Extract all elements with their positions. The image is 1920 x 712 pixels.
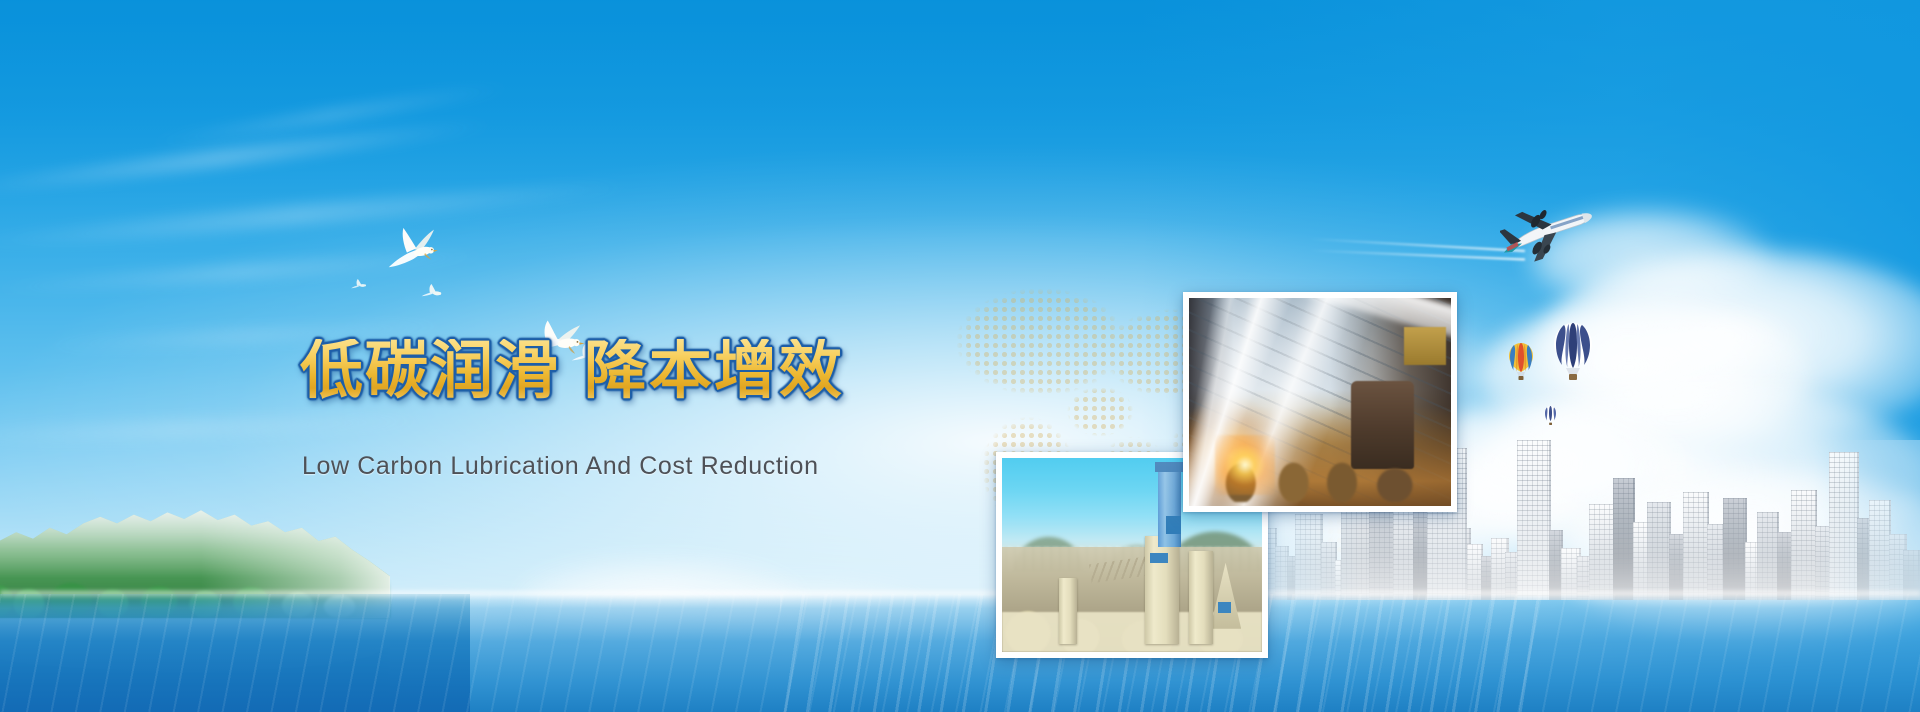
page-subtitle: Low Carbon Lubrication And Cost Reductio… bbox=[302, 452, 819, 481]
jet-airplane-icon bbox=[1500, 198, 1596, 268]
photo-card-steel-mill[interactable] bbox=[1183, 292, 1457, 512]
flying-dove-icon bbox=[419, 281, 444, 301]
hot-air-balloon-striped-icon bbox=[1552, 322, 1594, 384]
steel-mill-image bbox=[1189, 298, 1451, 506]
flying-dove-icon bbox=[350, 277, 368, 292]
contrail bbox=[1310, 238, 1525, 270]
page-title: 低碳润滑 降本增效 bbox=[300, 339, 844, 402]
flying-dove-icon bbox=[377, 220, 445, 272]
hot-air-balloon-small-icon bbox=[1544, 405, 1557, 427]
hot-air-balloon-orange-icon bbox=[1508, 342, 1534, 382]
hero-banner: 低碳润滑 降本增效 Low Carbon Lubrication And Cos… bbox=[0, 0, 1920, 712]
water-horizon bbox=[0, 591, 1920, 598]
